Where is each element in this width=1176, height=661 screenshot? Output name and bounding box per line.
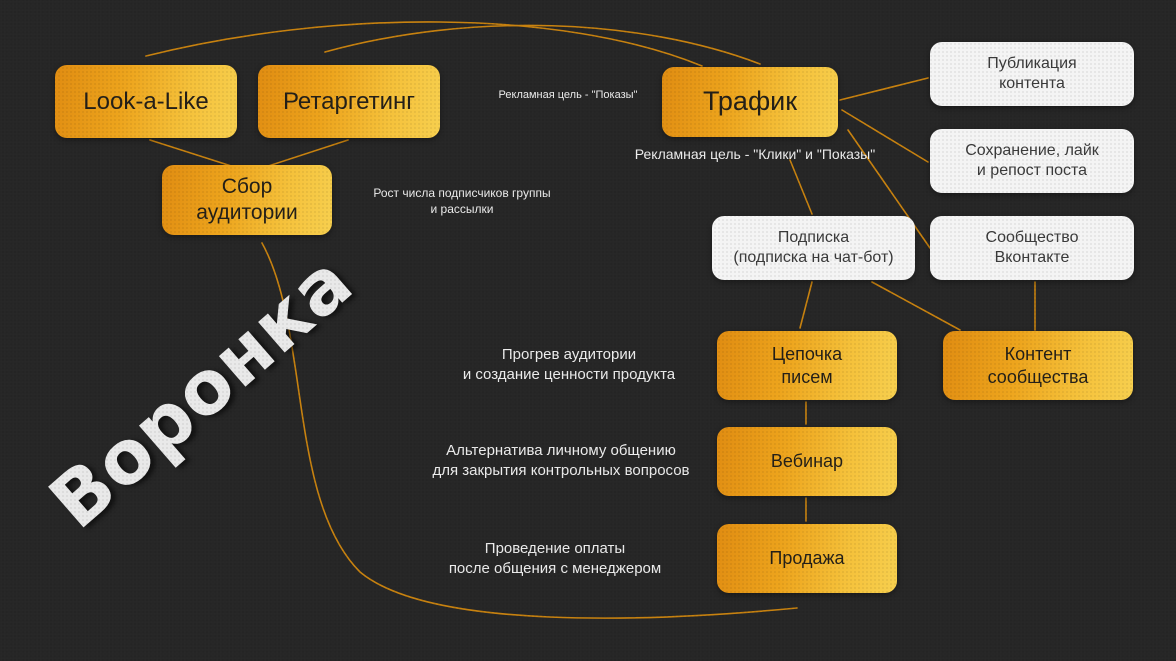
node-email-chain[interactable]: Цепочка писем bbox=[717, 331, 897, 400]
annotation-ann-clicks-impr: Рекламная цель - "Клики" и "Показы" bbox=[600, 145, 910, 163]
node-retargeting[interactable]: Ретаргетинг bbox=[258, 65, 440, 138]
annotation-ann-payment: Проведение оплаты после общения с менедж… bbox=[430, 539, 680, 578]
node-traffic[interactable]: Трафик bbox=[662, 67, 838, 137]
connector-traffic-to-publish bbox=[840, 78, 928, 100]
node-save-like-repost[interactable]: Сохранение, лайк и репост поста bbox=[930, 129, 1134, 193]
connector-subscription-to-comm-content bbox=[872, 282, 960, 330]
connector-traffic-to-subscription bbox=[790, 160, 812, 214]
node-vk-community[interactable]: Сообщество Вконтакте bbox=[930, 216, 1134, 280]
node-community-content[interactable]: Контент сообщества bbox=[943, 331, 1133, 400]
node-webinar[interactable]: Вебинар bbox=[717, 427, 897, 496]
connector-retargeting-to-traffic bbox=[325, 25, 760, 64]
annotation-ann-alternative: Альтернатива личному общению для закрыти… bbox=[420, 441, 702, 480]
node-content-publish[interactable]: Публикация контента bbox=[930, 42, 1134, 106]
node-sale[interactable]: Продажа bbox=[717, 524, 897, 593]
annotation-ann-warmup: Прогрев аудитории и создание ценности пр… bbox=[448, 345, 690, 384]
annotation-ann-impressions: Рекламная цель - "Показы" bbox=[458, 88, 678, 102]
node-subscription[interactable]: Подписка (подписка на чат-бот) bbox=[712, 216, 915, 280]
connector-look-a-like-to-traffic bbox=[146, 22, 702, 66]
connector-subscription-to-email-chain bbox=[800, 282, 812, 328]
annotation-ann-subscribers: Рост числа подписчиков группы и рассылки bbox=[348, 186, 576, 217]
node-look-a-like[interactable]: Look-a-Like bbox=[55, 65, 237, 138]
watermark-voronka: Воронка bbox=[34, 238, 369, 545]
node-audience-collect[interactable]: Сбор аудитории bbox=[162, 165, 332, 235]
funnel-diagram-canvas: Look-a-LikeРетаргетингСбор аудиторииТраф… bbox=[0, 0, 1176, 661]
